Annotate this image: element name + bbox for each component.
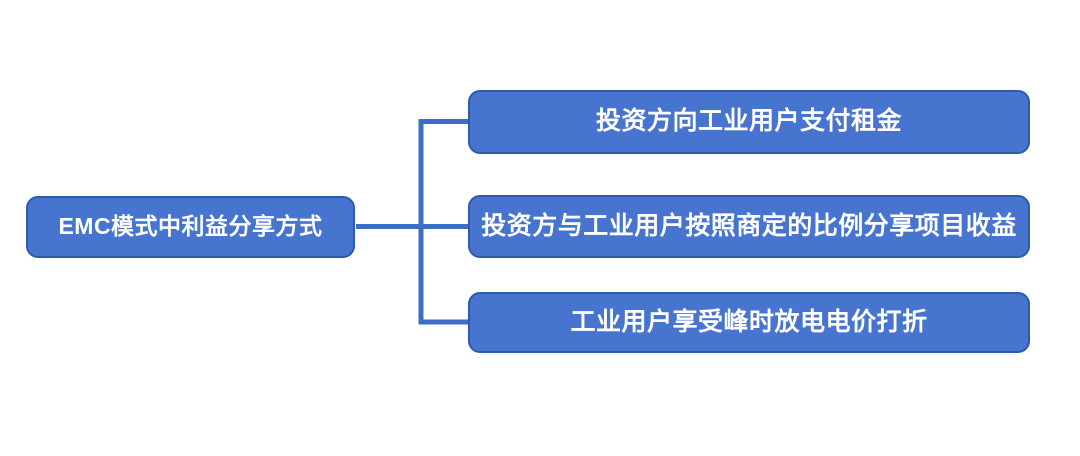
child-node-profit-share[interactable]: 投资方与工业用户按照商定的比例分享项目收益: [468, 195, 1030, 258]
root-node-label: EMC模式中利益分享方式: [58, 214, 322, 239]
diagram-canvas: EMC模式中利益分享方式 投资方向工业用户支付租金 投资方与工业用户按照商定的比…: [0, 0, 1080, 456]
child-node-label: 工业用户享受峰时放电电价打折: [570, 309, 927, 337]
child-node-discount[interactable]: 工业用户享受峰时放电电价打折: [468, 292, 1030, 353]
child-node-payment[interactable]: 投资方向工业用户支付租金: [468, 90, 1030, 154]
child-node-label: 投资方向工业用户支付租金: [596, 108, 902, 136]
child-node-label: 投资方与工业用户按照商定的比例分享项目收益: [481, 213, 1017, 241]
root-node[interactable]: EMC模式中利益分享方式: [26, 196, 355, 258]
